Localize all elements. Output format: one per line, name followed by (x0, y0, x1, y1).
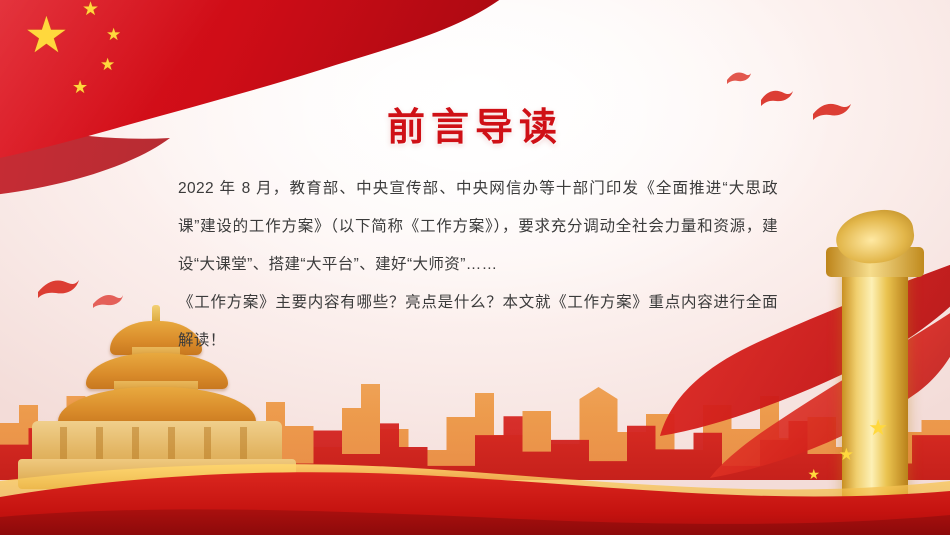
ribbon-star-icon: ★ (868, 417, 888, 439)
body-text-block: 2022 年 8 月，教育部、中央宣传部、中央网信办等十部门印发《全面推进“大思… (178, 170, 778, 360)
ribbon-star-icon: ★ (839, 446, 854, 463)
slide-canvas: ★ ★ ★ ★ ★ ★ ★ ★ 前言导读 2022 年 8 月，教育部、中央宣传… (0, 0, 950, 535)
peace-dove-icon (36, 276, 80, 300)
body-paragraph-1: 2022 年 8 月，教育部、中央宣传部、中央网信办等十部门印发《全面推进“大思… (178, 170, 778, 284)
peace-dove-icon (726, 70, 752, 86)
body-paragraph-2: 《工作方案》主要内容有哪些？亮点是什么？本文就《工作方案》重点内容进行全面解读！ (178, 284, 778, 360)
peace-dove-icon (92, 292, 124, 310)
flag-star-small-icon: ★ (82, 0, 99, 19)
flag-star-large-icon: ★ (24, 10, 69, 60)
huabiao-pillar (842, 257, 908, 517)
ribbon-star-icon: ★ (807, 467, 820, 481)
flag-star-small-icon: ★ (100, 56, 115, 73)
flag-star-small-icon: ★ (72, 78, 88, 96)
page-title: 前言导读 (0, 96, 950, 151)
flag-star-small-icon: ★ (106, 26, 121, 43)
